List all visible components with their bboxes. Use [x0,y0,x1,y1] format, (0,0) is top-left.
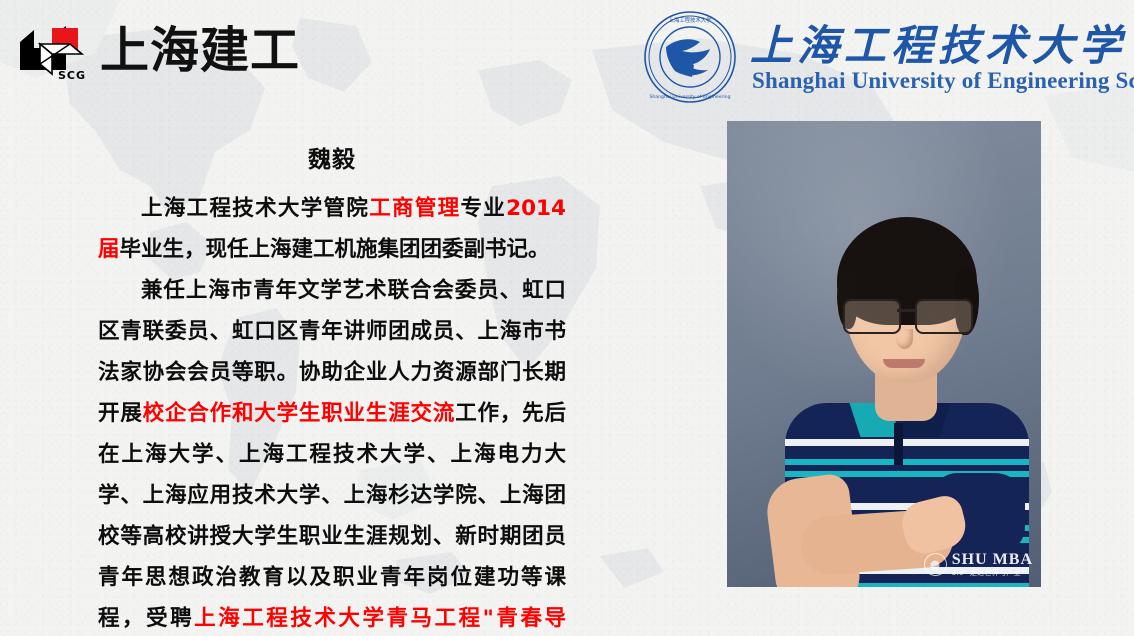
sues-wordmark-en: Shanghai University of Engineering Scien… [752,68,1134,94]
biography-paragraphs: 上海工程技术大学管院工商管理专业2014届毕业生，现任上海建工机施集团团委副书记… [98,188,566,636]
lens-right [915,299,973,334]
svg-text:SCG: SCG [58,69,86,82]
svg-text:Shanghai University of Enginee: Shanghai University of Engineering [649,94,730,100]
body-text: 上海工程技术大学管院 [141,196,369,221]
shu-mba-subtitle: 3.0" 走进世界与产业" [952,570,1033,577]
highlighted-text: 工商管理 [369,196,460,221]
scg-cube-icon: SCG [18,24,90,82]
svg-text:上海工程技术大学: 上海工程技术大学 [668,16,712,24]
lens-left [843,299,901,334]
shu-mba-watermark: SHU MBA 3.0" 走进世界与产业" [924,552,1033,577]
shirt-placket [894,423,903,465]
shu-mba-title: SHU MBA [952,552,1033,568]
highlighted-text: 校企合作和大学生职业生涯交流 [143,401,456,426]
sues-seal-icon: 上海工程技术大学 Shanghai University of Engineer… [642,9,738,105]
eyeglasses-icon [841,299,973,333]
mouth [883,359,925,368]
sues-logo: 上海工程技术大学 Shanghai University of Engineer… [636,4,1134,108]
glasses-bridge [897,309,915,312]
body-text: 专业 [460,196,506,221]
shu-mba-words: SHU MBA 3.0" 走进世界与产业" [952,552,1033,577]
presentation-slide: SCG 上海建工 上海工程技术大学 Shanghai University of… [0,0,1134,636]
body-text: 毕业生，现任上海建工机施集团团委副书记。 [120,237,550,262]
sues-wordmark-cn: 上海工程技术大学 [750,12,1126,73]
body-text: 工作，先后在上海大学、上海工程技术大学、上海电力大学、上海应用技术大学、上海杉达… [98,401,566,631]
biography-paragraph: 兼任上海市青年文学艺术联合会委员、虹口区青联委员、虹口区青年讲师团成员、上海市书… [98,270,566,636]
biography-paragraph: 上海工程技术大学管院工商管理专业2014届毕业生，现任上海建工机施集团团委副书记… [98,188,566,270]
biography-block: 魏毅 上海工程技术大学管院工商管理专业2014届毕业生，现任上海建工机施集团团委… [98,140,566,636]
portrait-photo: SHU MBA 3.0" 走进世界与产业" [727,121,1041,587]
shanghai-construction-group-logo: SCG 上海建工 [18,22,278,84]
person-name: 魏毅 [98,140,566,174]
shu-seal-icon [924,553,947,576]
nose [896,329,913,349]
scg-wordmark-cn: 上海建工 [100,22,300,80]
